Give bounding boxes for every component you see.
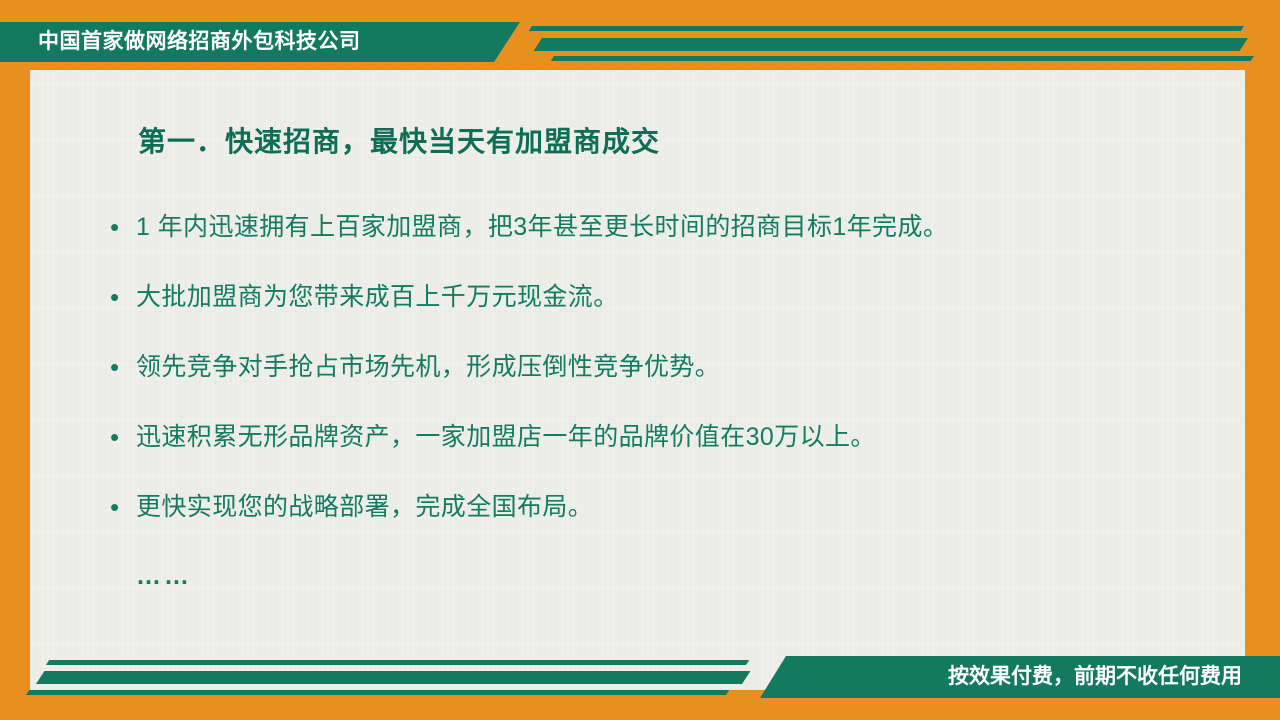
- header-green-block: [0, 22, 520, 62]
- bullet-text: 迅速积累无形品牌资产，一家加盟店一年的品牌价值在30万以上。: [136, 422, 876, 452]
- header-title: 中国首家做网络招商外包科技公司: [38, 22, 361, 62]
- footer-stripe-thin-bottom: [26, 690, 729, 695]
- bullet-text: 更快实现您的战略部署，完成全国布局。: [136, 492, 593, 522]
- bullet-text: 大批加盟商为您带来成百上千万元现金流。: [136, 282, 619, 312]
- header-stripe-thin-top: [529, 26, 1244, 31]
- bullet-text: 1 年内迅速拥有上百家加盟商，把3年甚至更长时间的招商目标1年完成。: [136, 212, 948, 242]
- list-item: • 大批加盟商为您带来成百上千万元现金流。: [110, 282, 1230, 312]
- bullet-dot-icon: •: [110, 352, 136, 382]
- list-item: • 迅速积累无形品牌资产，一家加盟店一年的品牌价值在30万以上。: [110, 422, 1230, 452]
- bullet-dot-icon: •: [110, 422, 136, 452]
- page-title: 第一．快速招商，最快当天有加盟商成交: [138, 120, 1230, 160]
- bullet-dot-icon: •: [110, 212, 136, 242]
- header-stripe-thick: [534, 38, 1248, 51]
- header-band: 中国首家做网络招商外包科技公司: [0, 22, 1280, 62]
- slide: 中国首家做网络招商外包科技公司 第一．快速招商，最快当天有加盟商成交 • 1 年…: [0, 0, 1280, 720]
- list-item: • 更快实现您的战略部署，完成全国布局。: [110, 492, 1230, 522]
- bullet-dot-icon: •: [110, 492, 136, 522]
- list-item: • 1 年内迅速拥有上百家加盟商，把3年甚至更长时间的招商目标1年完成。: [110, 212, 1230, 242]
- header-stripe-thin-bottom: [551, 56, 1254, 61]
- bullet-dot-icon: •: [110, 282, 136, 312]
- list-item: • 领先竞争对手抢占市场先机，形成压倒性竞争优势。: [110, 352, 1230, 382]
- bullet-list: • 1 年内迅速拥有上百家加盟商，把3年甚至更长时间的招商目标1年完成。 • 大…: [110, 212, 1230, 522]
- slide-content: 第一．快速招商，最快当天有加盟商成交 • 1 年内迅速拥有上百家加盟商，把3年甚…: [110, 120, 1230, 591]
- bullet-text: 领先竞争对手抢占市场先机，形成压倒性竞争优势。: [136, 352, 720, 382]
- ellipsis-text: ……: [136, 562, 1230, 591]
